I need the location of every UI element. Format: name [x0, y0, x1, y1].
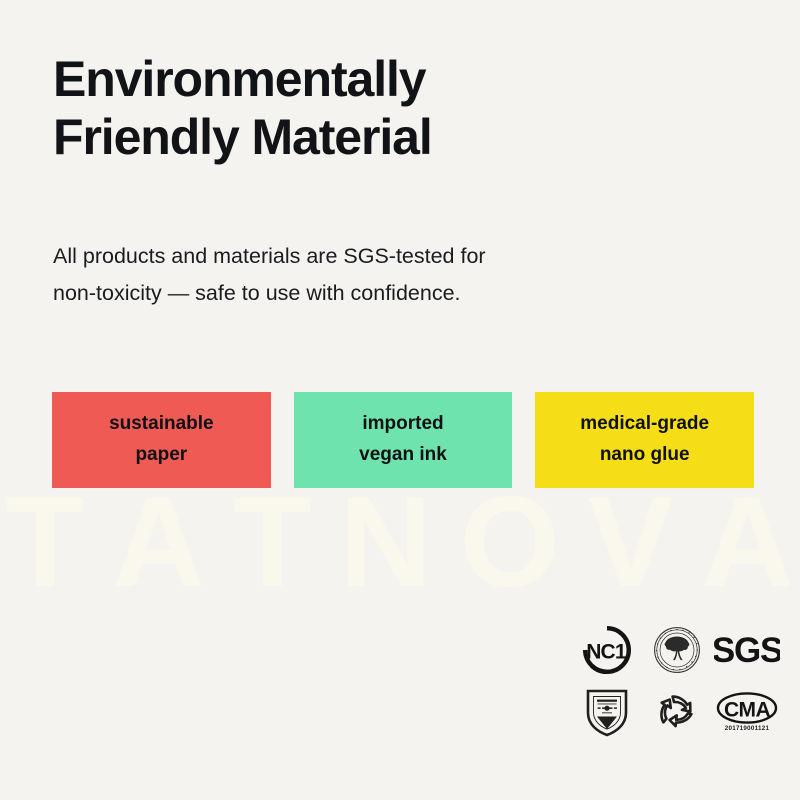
watermark-letter: T	[6, 479, 84, 607]
watermark-letter: A	[112, 479, 204, 607]
svg-text:CMA: CMA	[724, 699, 770, 722]
watermark-letter: V	[588, 479, 673, 607]
page-description: All products and materials are SGS-teste…	[53, 238, 653, 312]
recycling-loop-badge	[644, 682, 710, 742]
page-title-line-2: Friendly Material	[53, 108, 673, 166]
watermark-letter: O	[460, 479, 560, 607]
sgs-certification-badge: SGS	[714, 620, 780, 680]
certification-badge-grid: NC1 SGS	[574, 620, 780, 742]
page-title: Environmentally Friendly Material	[53, 50, 673, 166]
brand-watermark: T A T N O V A	[0, 478, 800, 608]
watermark-letter: N	[339, 479, 431, 607]
page-title-line-1: Environmentally	[53, 50, 673, 108]
forest-tree-seal-badge	[644, 620, 710, 680]
material-chip-line-2: vegan ink	[359, 442, 447, 469]
material-chip-line-2: nano glue	[600, 442, 690, 469]
material-chip-line-1: imported	[362, 411, 443, 438]
nc1-certification-badge: NC1	[574, 620, 640, 680]
shield-chevron-badge	[574, 682, 640, 742]
material-chip-line-1: sustainable	[109, 411, 214, 438]
page-description-line-2: non-toxicity — safe to use with confiden…	[53, 275, 653, 312]
material-chip-imported-vegan-ink: imported vegan ink	[294, 392, 513, 488]
watermark-letter: A	[702, 479, 794, 607]
cma-certificate-number: 201719001121	[725, 726, 770, 732]
material-chip-sustainable-paper: sustainable paper	[52, 392, 271, 488]
material-chip-group: sustainable paper imported vegan ink med…	[52, 392, 754, 488]
material-chip-line-1: medical-grade	[580, 411, 709, 438]
svg-text:NC1: NC1	[586, 641, 627, 664]
watermark-letter: T	[233, 479, 311, 607]
cma-certification-badge: CMA 201719001121	[714, 682, 780, 742]
material-chip-medical-grade-nano-glue: medical-grade nano glue	[535, 392, 754, 488]
page-description-line-1: All products and materials are SGS-teste…	[53, 238, 653, 275]
material-chip-line-2: paper	[135, 442, 187, 469]
